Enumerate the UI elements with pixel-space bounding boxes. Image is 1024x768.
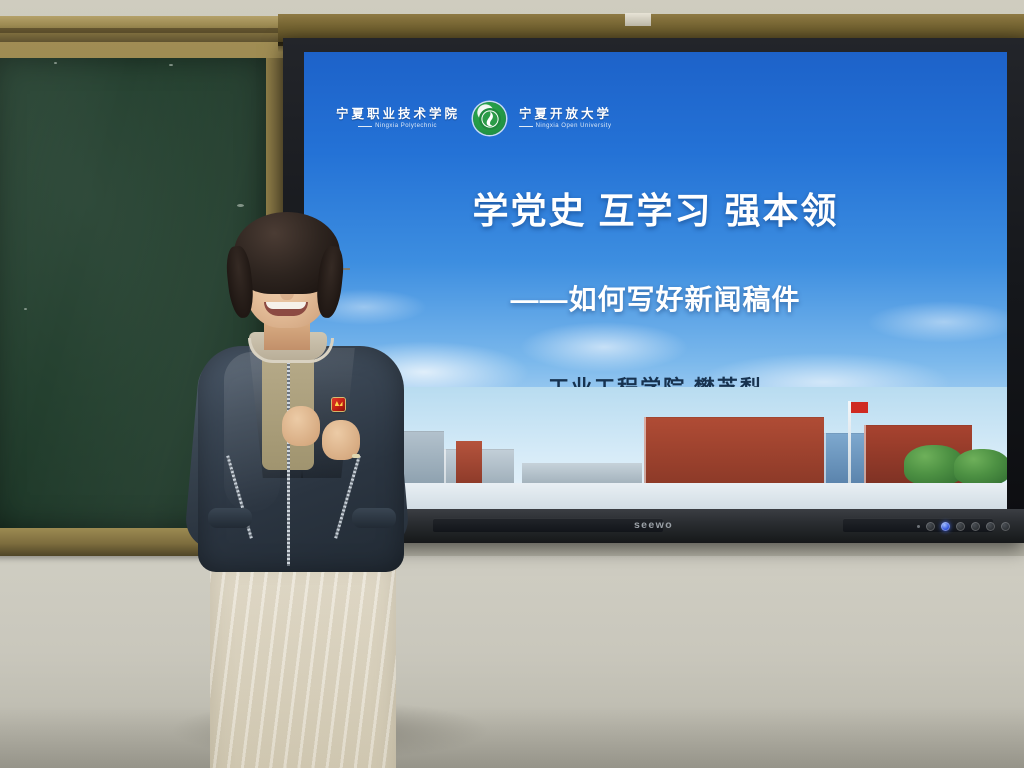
finger-ring [352,454,360,458]
party-emblem-lapel-pin [332,398,345,411]
display-button-5[interactable] [986,522,995,531]
slide-logo-row: 宁夏职业技术学院 Ningxia Polytechnic 宁夏开放大学 Ning… [336,102,612,135]
polytechnic-logo-en: Ningxia Polytechnic [359,123,437,129]
tree-cluster-right2 [954,449,1007,485]
wall-lower [0,556,1024,768]
photo-scene: 宁夏职业技术学院 Ningxia Polytechnic 宁夏开放大学 Ning… [0,0,1024,768]
beam-label-sticker [625,13,651,26]
display-button-4[interactable] [971,522,980,531]
display-control-buttons[interactable] [917,522,1010,531]
polytechnic-logo-cn: 宁夏职业技术学院 [336,108,460,121]
open-university-logo-cn: 宁夏开放大学 [519,108,612,121]
flagpole [848,401,851,487]
cuff-right [352,508,396,528]
display-button-3[interactable] [956,522,965,531]
ningxia-polytechnic-logo: 宁夏职业技术学院 Ningxia Polytechnic [336,108,460,129]
jacket-center-zipper [287,354,290,566]
display-power-button[interactable] [941,522,950,531]
green-circular-university-emblem [473,102,506,135]
hand-left [282,406,320,446]
cuff-left [208,508,252,528]
female-presenter [186,208,476,768]
blue-glass-building [824,433,868,483]
ir-sensor-dot [917,525,920,528]
lace-skirt [210,560,396,768]
red-brick-building-center [644,417,824,483]
open-university-logo-en: Ningxia Open University [520,123,612,129]
chalkboard-top-rail [0,16,290,42]
display-button-1[interactable] [926,522,935,531]
red-flag [851,402,868,413]
low-building-mid [522,463,642,483]
ningxia-open-university-logo: 宁夏开放大学 Ningxia Open University [519,108,612,129]
display-button-6[interactable] [1001,522,1010,531]
